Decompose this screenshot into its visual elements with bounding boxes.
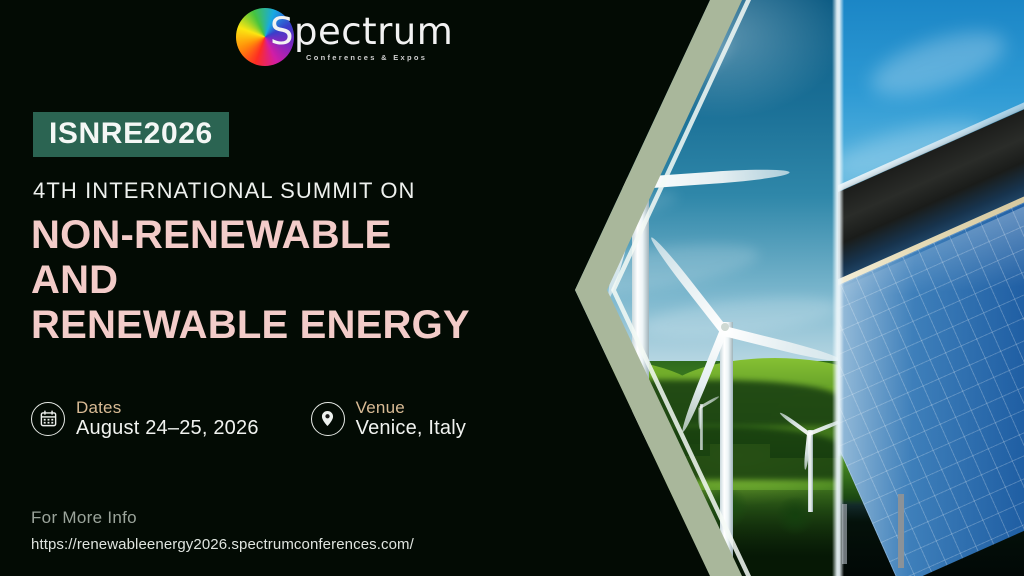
mounting-post [898,494,904,568]
spectrum-logo[interactable]: Spectrum Conferences & Expos [236,8,453,66]
event-title: NON-RENEWABLE AND RENEWABLE ENERGY [31,213,511,349]
event-title-line-2: AND [31,258,511,303]
event-website-link[interactable]: https://renewableenergy2026.spectrumconf… [31,536,414,553]
event-details-row: Dates August 24–25, 2026 Venue Venice, I… [31,398,466,439]
venue-value: Venice, Italy [356,417,466,439]
event-code-badge: ISNRE2026 [33,112,229,157]
dates-text: Dates August 24–25, 2026 [76,398,259,439]
location-pin-icon [311,402,345,436]
venue-item: Venue Venice, Italy [311,398,466,439]
venue-text: Venue Venice, Italy [356,398,466,439]
content-panel: Spectrum Conferences & Expos ISNRE2026 4… [0,0,520,576]
brand-name: Spectrum [270,13,453,50]
event-title-line-1: NON-RENEWABLE [31,213,511,258]
venue-label: Venue [356,398,466,417]
solar-panel-photo [838,0,1024,576]
turbine-hub [721,323,729,331]
dates-label: Dates [76,398,259,417]
conference-banner: Spectrum Conferences & Expos ISNRE2026 4… [0,0,1024,576]
dates-value: August 24–25, 2026 [76,417,259,439]
event-title-line-3: RENEWABLE ENERGY [31,303,511,348]
event-eyebrow: 4TH INTERNATIONAL SUMMIT ON [33,178,416,204]
brand-tagline: Conferences & Expos [306,53,453,62]
logo-wordmark: Spectrum Conferences & Expos [270,13,453,62]
event-code: ISNRE2026 [49,119,213,149]
distant-turbine-blade [699,408,702,430]
more-info-label: For More Info [31,508,137,528]
calendar-icon [31,402,65,436]
photo-divider-seam [832,0,844,576]
dates-item: Dates August 24–25, 2026 [31,398,259,439]
